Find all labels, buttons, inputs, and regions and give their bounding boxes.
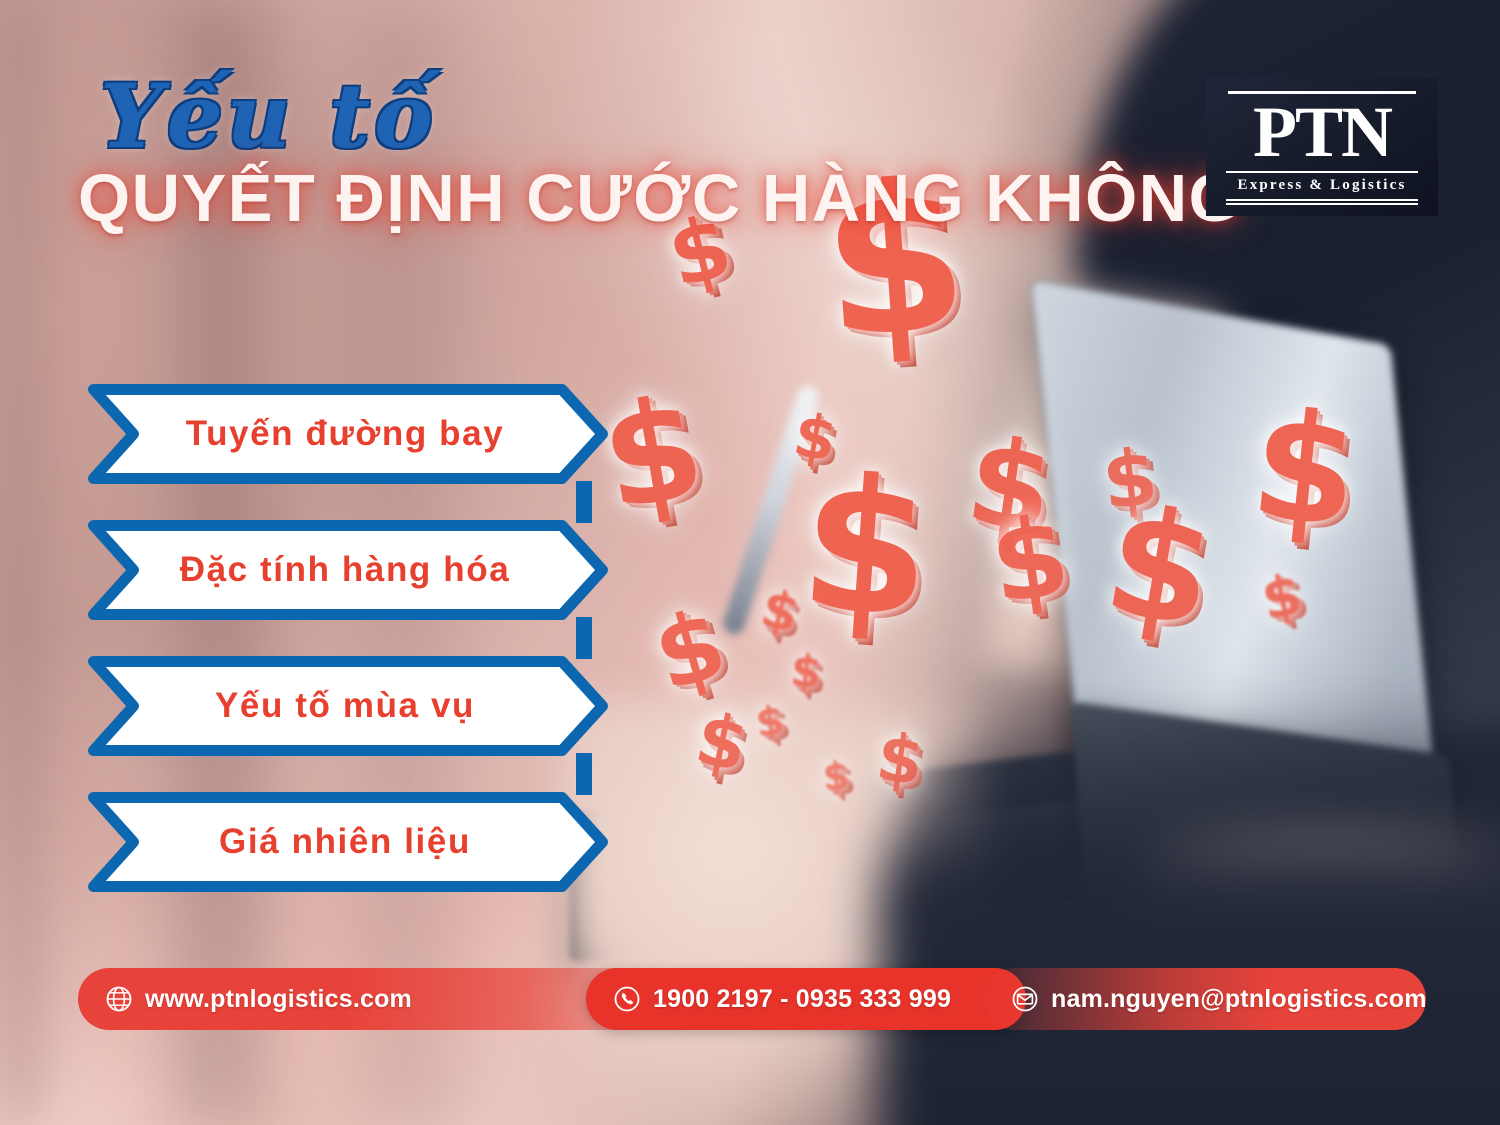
phone-icon	[612, 984, 642, 1014]
flow-item[interactable]: Yếu tố mùa vụ	[88, 656, 608, 756]
logo-wordmark: PTN	[1218, 98, 1426, 166]
headline-main: QUYẾT ĐỊNH CƯỚC HÀNG KHÔNG	[78, 164, 1242, 234]
flow-item[interactable]: Đặc tính hàng hóa	[88, 520, 608, 620]
flow-connector	[576, 753, 592, 795]
contact-bar: www.ptnlogistics.com 1900 2197 - 0935 33…	[78, 968, 1426, 1030]
headline-block: Yếu tố QUYẾT ĐỊNH CƯỚC HÀNG KHÔNG	[78, 72, 1242, 234]
flow-item[interactable]: Tuyến đường bay	[88, 384, 608, 484]
logo-rule-bottom-2	[1226, 203, 1418, 205]
flow-connector	[576, 481, 592, 523]
logo-tagline: Express & Logistics	[1218, 177, 1426, 194]
globe-icon	[104, 984, 134, 1014]
logo-rule-middle	[1226, 171, 1418, 173]
logo-rule-bottom-1	[1226, 199, 1418, 201]
chevron-shape	[88, 384, 608, 484]
contact-email[interactable]: nam.nguyen@ptnlogistics.com	[984, 968, 1426, 1030]
stylus-pen	[720, 383, 821, 637]
chevron-shape	[88, 520, 608, 620]
chevron-shape	[88, 792, 608, 892]
flow-item[interactable]: Giá nhiên liệu	[88, 792, 608, 892]
chevron-shape	[88, 656, 608, 756]
poster-canvas: $$$$$$$$$$$$$$$$$$ Yếu tố QUYẾT ĐỊNH CƯỚ…	[0, 0, 1500, 1125]
factor-flow-list: Tuyến đường bayĐặc tính hàng hóaYếu tố m…	[88, 384, 608, 892]
background-suit-lower	[880, 690, 1500, 1125]
contact-phone-label: 1900 2197 - 0935 333 999	[653, 985, 951, 1014]
contact-phone[interactable]: 1900 2197 - 0935 333 999	[586, 968, 1026, 1030]
flow-connector	[576, 617, 592, 659]
brand-logo: PTN Express & Logistics	[1206, 78, 1438, 216]
headline-script: Yếu tố	[100, 72, 1242, 160]
contact-website-label: www.ptnlogistics.com	[145, 985, 412, 1014]
contact-email-label: nam.nguyen@ptnlogistics.com	[1051, 985, 1427, 1014]
envelope-icon	[1010, 984, 1040, 1014]
